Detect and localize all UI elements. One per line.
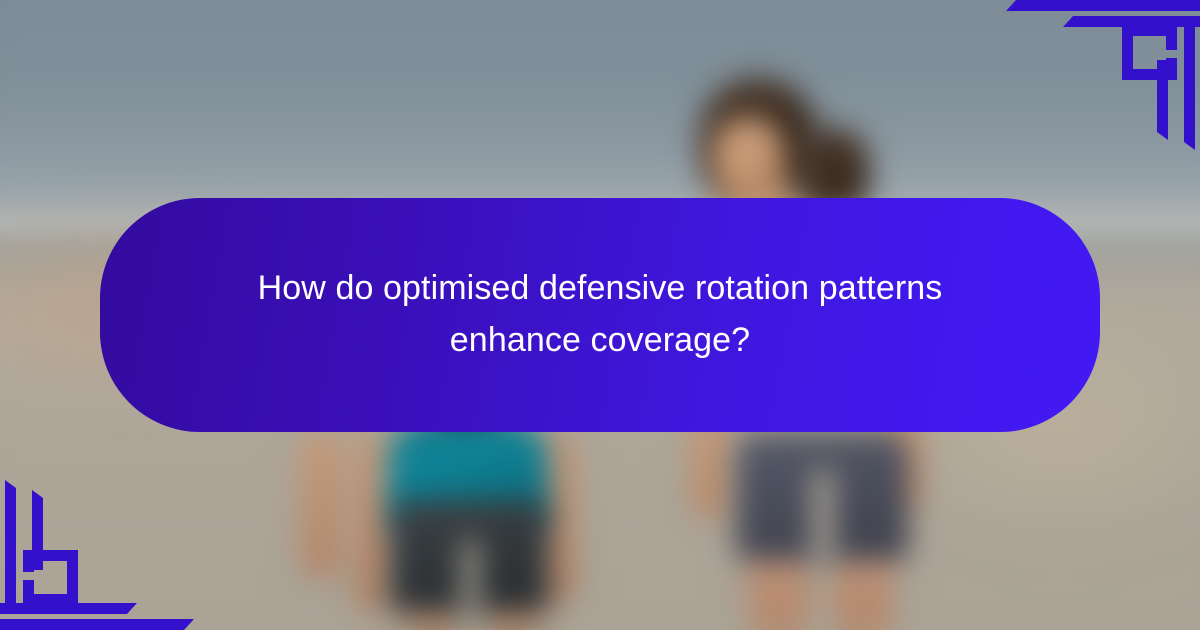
background-person-right-shorts-gap [812,470,834,566]
background-person-left-arm-left [352,432,392,612]
background-person-left-shorts-gap [462,540,479,618]
headline-card: How do optimised defensive rotation patt… [100,198,1100,432]
headline-text: How do optimised defensive rotation patt… [250,263,950,366]
background-person-far-left [300,430,344,580]
slide-canvas: How do optimised defensive rotation patt… [0,0,1200,630]
